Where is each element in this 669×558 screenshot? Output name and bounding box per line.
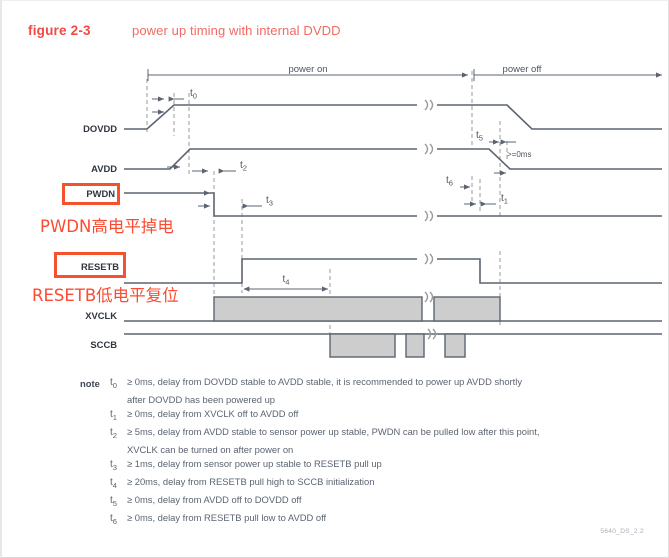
svg-text:t4: t4 [282,274,289,287]
note-6-text: ≥ 0ms, delay from RESETB pull low to AVD… [127,511,640,524]
svg-text:t0: t0 [190,88,197,101]
figure-page: figure 2-3 power up timing with internal… [0,0,669,558]
note-0-sub: 0 [113,381,117,390]
waveform-dovdd [124,105,662,129]
marker-t6-sub: 6 [449,179,453,188]
notes-heading: note [80,377,100,390]
signal-label-sccb: SCCB [90,339,117,350]
marker-t1: t1 [464,193,508,206]
highlight-box-pwdn [62,183,120,205]
document-code: 5640_DS_2.2 [600,528,644,535]
marker-t1-sub: 1 [504,197,508,206]
waveform-resetb [124,259,662,283]
break-mark-avdd [425,144,433,154]
waveform-xvclk-blocks [214,297,500,321]
note-5-text: ≥ 0ms, delay from AVDD off to DOVDD off [127,493,640,506]
break-mark-resetb [425,254,433,264]
marker-t3: t3 [198,195,273,208]
note-3-text: ≥ 1ms, delay from sensor power up stable… [127,457,640,470]
note-4-sub: 4 [113,481,117,490]
svg-text:t5: t5 [476,130,483,143]
marker-t4-sub: 4 [285,278,289,287]
marker-t4: t4 [244,274,328,289]
svg-text:t3: t3 [266,195,273,208]
marker-t3-sub: 3 [269,199,273,208]
note-4-text: ≥ 20ms, delay from RESETB pull high to S… [127,475,640,488]
note-5-sub: 5 [113,499,117,508]
annotation-resetb-chinese: RESETB低电平复位 [32,282,179,306]
signal-label-avdd: AVDD [91,163,117,174]
note-item: t5 ≥ 0ms, delay from AVDD off to DOVDD o… [110,493,640,510]
note-0-continuation: after DOVDD has been powered up [127,393,640,406]
marker-t0-sub: 0 [193,92,197,101]
break-mark-dovdd [425,100,433,110]
break-mark-pwdn [425,211,433,221]
phase-label-power-on: power on [288,64,327,75]
marker-t5: t5 [476,130,516,143]
break-mark-xvclk [425,292,433,302]
note-item: t6 ≥ 0ms, delay from RESETB pull low to … [110,511,640,528]
marker-t2-sub: 2 [243,164,247,173]
note-2-text: ≥ 5ms, delay from AVDD stable to sensor … [127,425,640,438]
note-1-sub: 1 [113,413,117,422]
marker-t6: t6 [446,175,470,188]
note-1-text: ≥ 0ms, delay from XVCLK off to AVDD off [127,407,640,420]
phase-label-power-off: power off [503,64,542,75]
note-6-sub: 6 [113,517,117,526]
note-2-continuation: XVCLK can be turned on after power on [127,443,640,456]
note-item: t2 ≥ 5ms, delay from AVDD stable to sens… [110,425,640,442]
waveform-avdd [124,149,662,169]
marker-t5-sub: 5 [479,134,483,143]
note-item: t1 ≥ 0ms, delay from XVCLK off to AVDD o… [110,407,640,424]
note-3-sub: 3 [113,463,117,472]
svg-text:t1: t1 [501,193,508,206]
notes-block: note t0 ≥ 0ms, delay from DOVDD stable t… [80,375,640,530]
note-0-text: ≥ 0ms, delay from DOVDD stable to AVDD s… [127,375,640,388]
marker-t2: t2 [192,160,247,173]
svg-text:t2: t2 [240,160,247,173]
note-item: t3 ≥ 1ms, delay from sensor power up sta… [110,457,640,474]
waveform-sccb-blocks [330,334,465,357]
highlight-box-resetb [54,252,126,278]
svg-text:t6: t6 [446,175,453,188]
annotation-pwdn-chinese: PWDN高电平掉电 [40,213,174,237]
notes-list: t0 ≥ 0ms, delay from DOVDD stable to AVD… [110,375,640,528]
marker-t0: t0 [152,88,197,101]
inline-note-0ms: >=0ms [507,150,531,159]
signal-label-dovdd: DOVDD [83,123,117,134]
waveform-pwdn [124,193,662,216]
note-item: t4 ≥ 20ms, delay from RESETB pull high t… [110,475,640,492]
signal-label-xvclk: XVCLK [85,310,117,321]
note-item: t0 ≥ 0ms, delay from DOVDD stable to AVD… [110,375,640,392]
note-2-sub: 2 [113,431,117,440]
phase-axis [148,69,662,81]
